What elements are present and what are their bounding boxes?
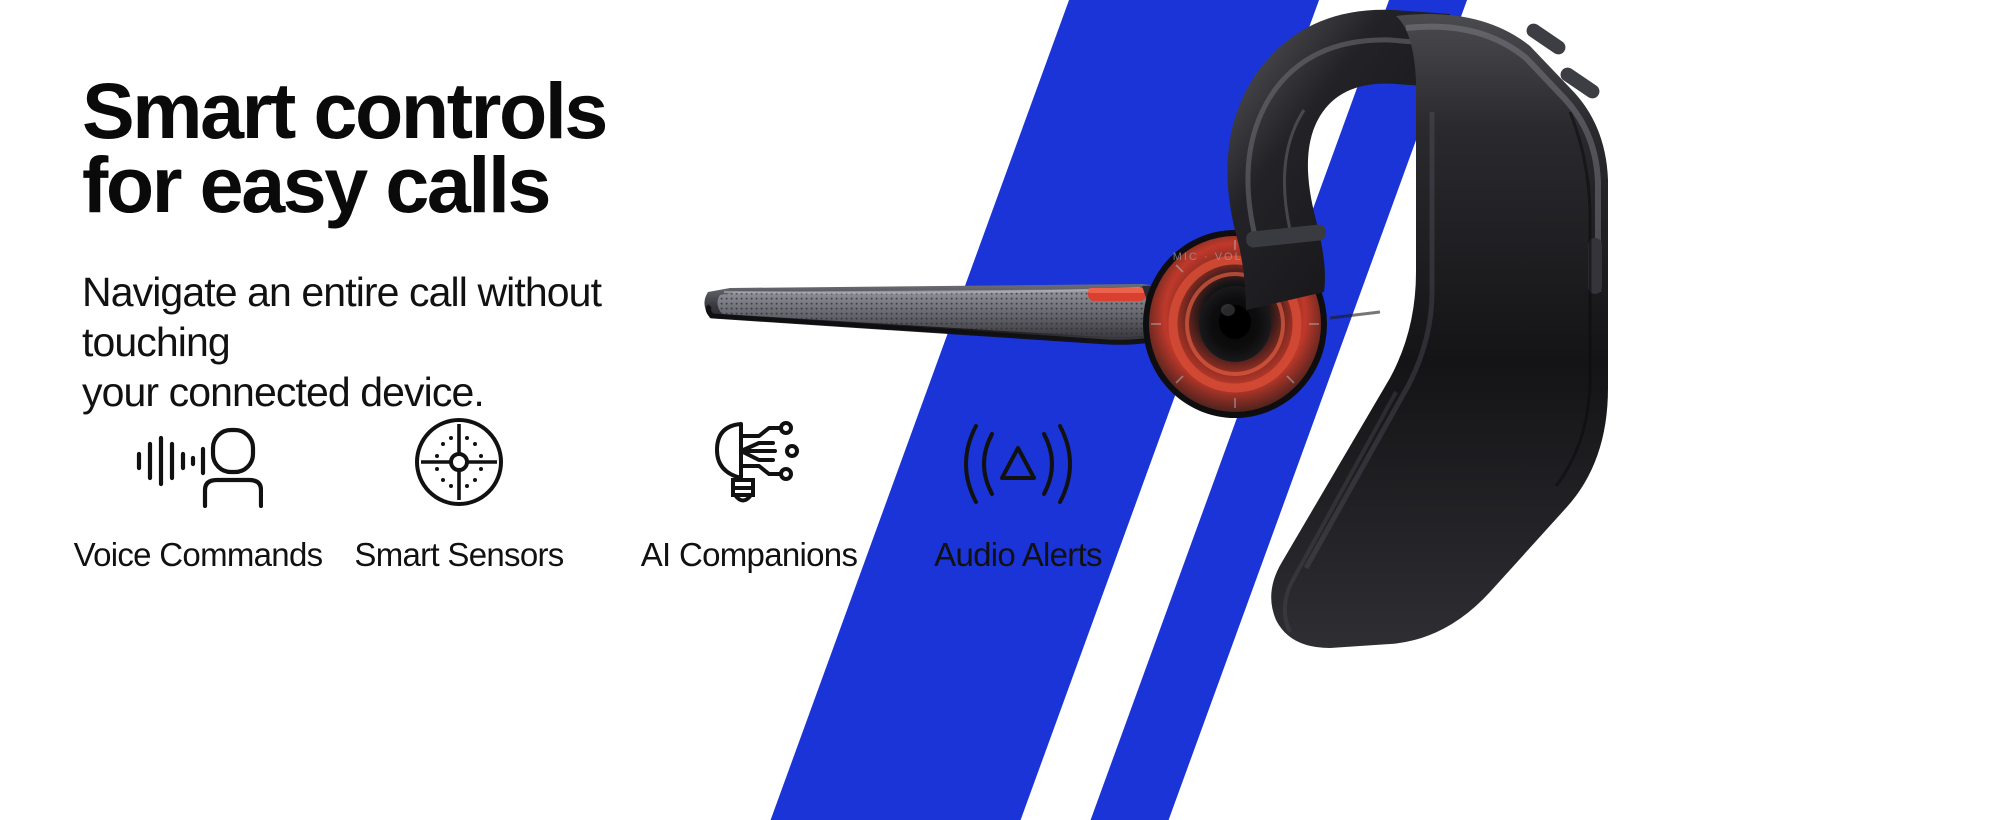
page-title: Smart controls for easy calls — [82, 74, 722, 223]
feature-label: Smart Sensors — [354, 536, 563, 574]
feature-label: Voice Commands — [74, 536, 323, 574]
feature-item-voice-commands[interactable]: Voice Commands — [82, 418, 314, 574]
feature-item-audio-alerts[interactable]: Audio Alerts — [894, 418, 1142, 574]
subheadline: Navigate an entire call without touching… — [82, 223, 722, 417]
feature-item-ai-companions[interactable]: AI Companions — [604, 418, 894, 574]
feature-list: Voice Commands — [82, 418, 1142, 574]
copy-block: Smart controls for easy calls Navigate a… — [82, 74, 722, 417]
promo-banner: MIC · VOL · MUTE — [0, 0, 2000, 820]
feature-item-smart-sensors[interactable]: Smart Sensors — [314, 418, 604, 574]
ai-lightbulb-circuit-icon — [697, 418, 801, 508]
feature-label: AI Companions — [641, 536, 858, 574]
smart-sensor-crosshair-icon — [413, 418, 505, 508]
audio-alert-waves-icon — [958, 418, 1078, 508]
product-image-headset: MIC · VOL · MUTE — [690, 0, 2000, 820]
feature-label: Audio Alerts — [934, 536, 1102, 574]
voice-waveform-person-icon — [133, 418, 263, 508]
